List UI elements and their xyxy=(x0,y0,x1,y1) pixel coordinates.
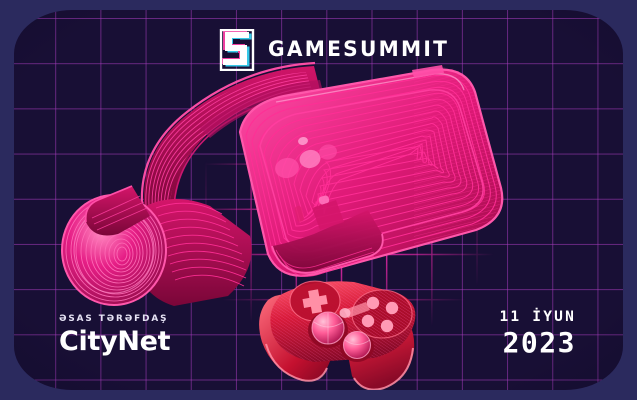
brand-wordmark: GAMESUMMIT xyxy=(268,39,449,61)
main-partner-name: CityNet xyxy=(59,328,173,355)
event-date-year: 2023 xyxy=(499,329,576,357)
event-date-day: 11 İYUN xyxy=(499,310,576,325)
crt-screen: GAMESUMMIT ƏSAS TƏRƏFDAŞ CityNet 11 İYUN… xyxy=(14,10,623,390)
event-date-block: 11 İYUN 2023 xyxy=(499,310,576,358)
gamesummit-s-glitch-logo xyxy=(219,29,255,71)
main-partner-label: ƏSAS TƏRƏFDAŞ xyxy=(59,313,168,324)
main-partner-block: ƏSAS TƏRƏFDAŞ CityNet xyxy=(59,313,173,355)
gamepad xyxy=(259,281,415,390)
brand-logo: GAMESUMMIT xyxy=(219,29,461,71)
poster-canvas: GAMESUMMIT ƏSAS TƏRƏFDAŞ CityNet 11 İYUN… xyxy=(0,0,637,400)
